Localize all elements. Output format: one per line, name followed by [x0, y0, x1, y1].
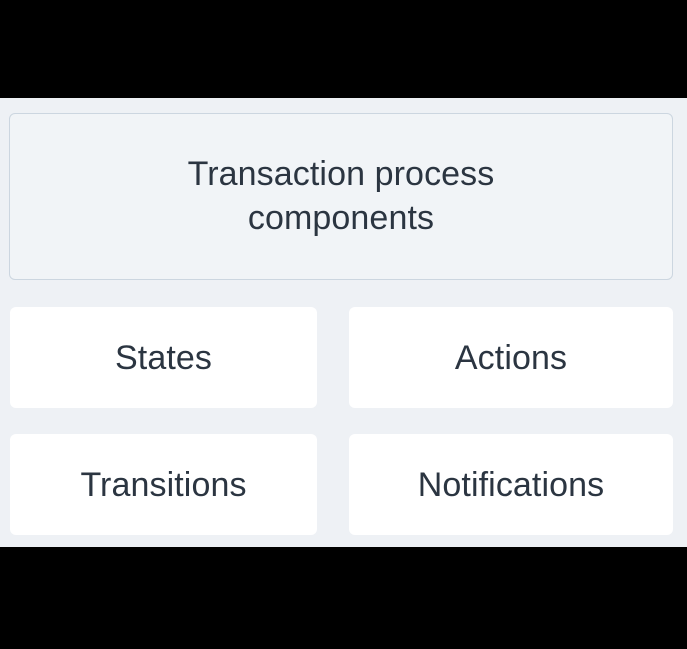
components-grid: States Actions Transitions Notifications: [10, 307, 673, 535]
component-card-label: Transitions: [80, 468, 246, 502]
component-card-notifications[interactable]: Notifications: [349, 434, 673, 535]
component-card-states[interactable]: States: [10, 307, 317, 408]
letterbox-top: [0, 0, 687, 98]
screen: Transaction process components States Ac…: [0, 0, 687, 649]
header-panel: Transaction process components: [9, 113, 673, 280]
component-card-label: Actions: [455, 341, 567, 375]
app-viewport: Transaction process components States Ac…: [0, 98, 687, 547]
component-card-label: Notifications: [418, 468, 605, 502]
page-title: Transaction process components: [106, 153, 576, 240]
component-card-actions[interactable]: Actions: [349, 307, 673, 408]
letterbox-bottom: [0, 547, 687, 649]
component-card-transitions[interactable]: Transitions: [10, 434, 317, 535]
component-card-label: States: [115, 341, 212, 375]
